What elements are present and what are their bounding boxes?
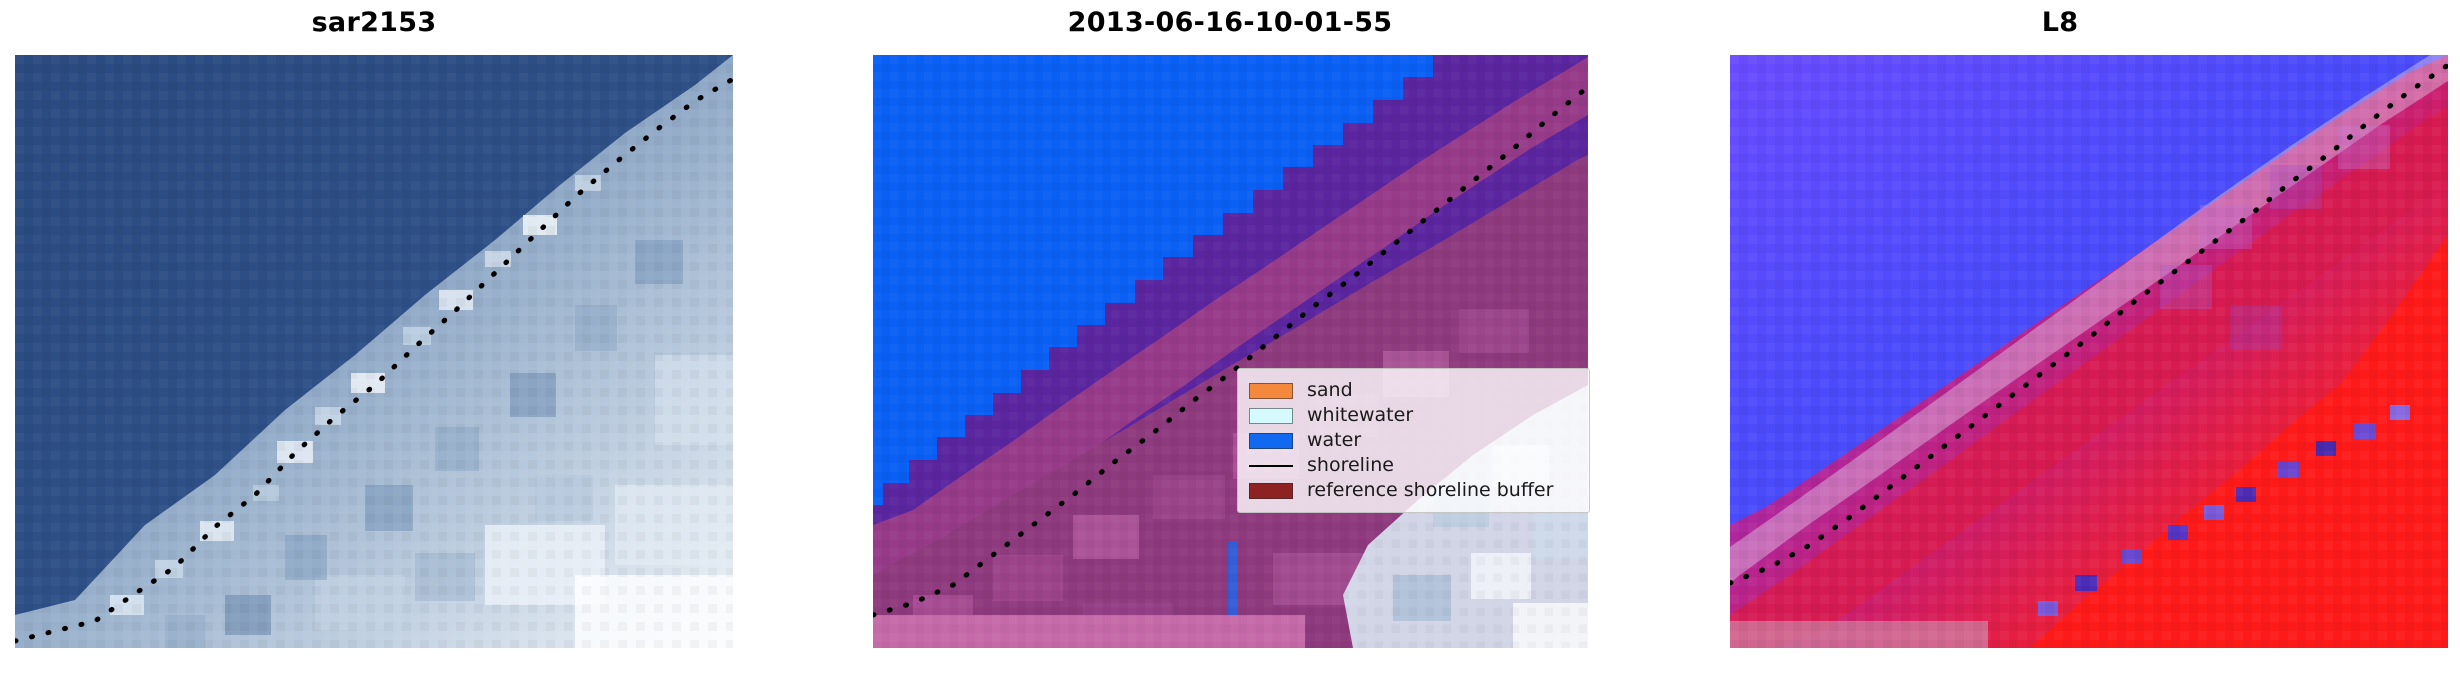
legend-item-water[interactable]: water	[1249, 428, 1577, 453]
legend-label-sand: sand	[1307, 381, 1353, 400]
legend-item-sand[interactable]: sand	[1249, 378, 1577, 403]
legend-label-reference-buffer: reference shoreline buffer	[1307, 481, 1553, 500]
legend-item-reference-buffer[interactable]: reference shoreline buffer	[1249, 478, 1577, 503]
legend-item-shoreline[interactable]: shoreline	[1249, 453, 1577, 478]
axes-sar[interactable]	[15, 55, 733, 648]
panel-title-classified: 2013-06-16-10-01-55	[820, 6, 1640, 40]
panel-sar: sar2153	[0, 0, 748, 675]
l8-image	[1730, 55, 2448, 648]
legend-box: sand whitewater water shoreline referenc…	[1237, 368, 1590, 513]
reference-buffer-swatch	[1249, 483, 1293, 499]
axes-l8[interactable]	[1730, 55, 2448, 648]
shoreline-line-icon	[1249, 458, 1293, 474]
panel-title-l8: L8	[1660, 6, 2460, 40]
whitewater-swatch	[1249, 408, 1293, 424]
panel-title-sar: sar2153	[0, 6, 748, 40]
figure-canvas: sar2153	[0, 0, 2460, 675]
legend-label-shoreline: shoreline	[1307, 456, 1394, 475]
panel-l8: L8	[1660, 0, 2460, 675]
classified-image	[873, 55, 1588, 648]
legend-label-whitewater: whitewater	[1307, 406, 1413, 425]
sand-swatch	[1249, 383, 1293, 399]
sar-image	[15, 55, 733, 648]
water-swatch	[1249, 433, 1293, 449]
panel-classified: 2013-06-16-10-01-55	[820, 0, 1640, 675]
axes-classified[interactable]	[873, 55, 1588, 648]
legend-item-whitewater[interactable]: whitewater	[1249, 403, 1577, 428]
legend-label-water: water	[1307, 431, 1361, 450]
